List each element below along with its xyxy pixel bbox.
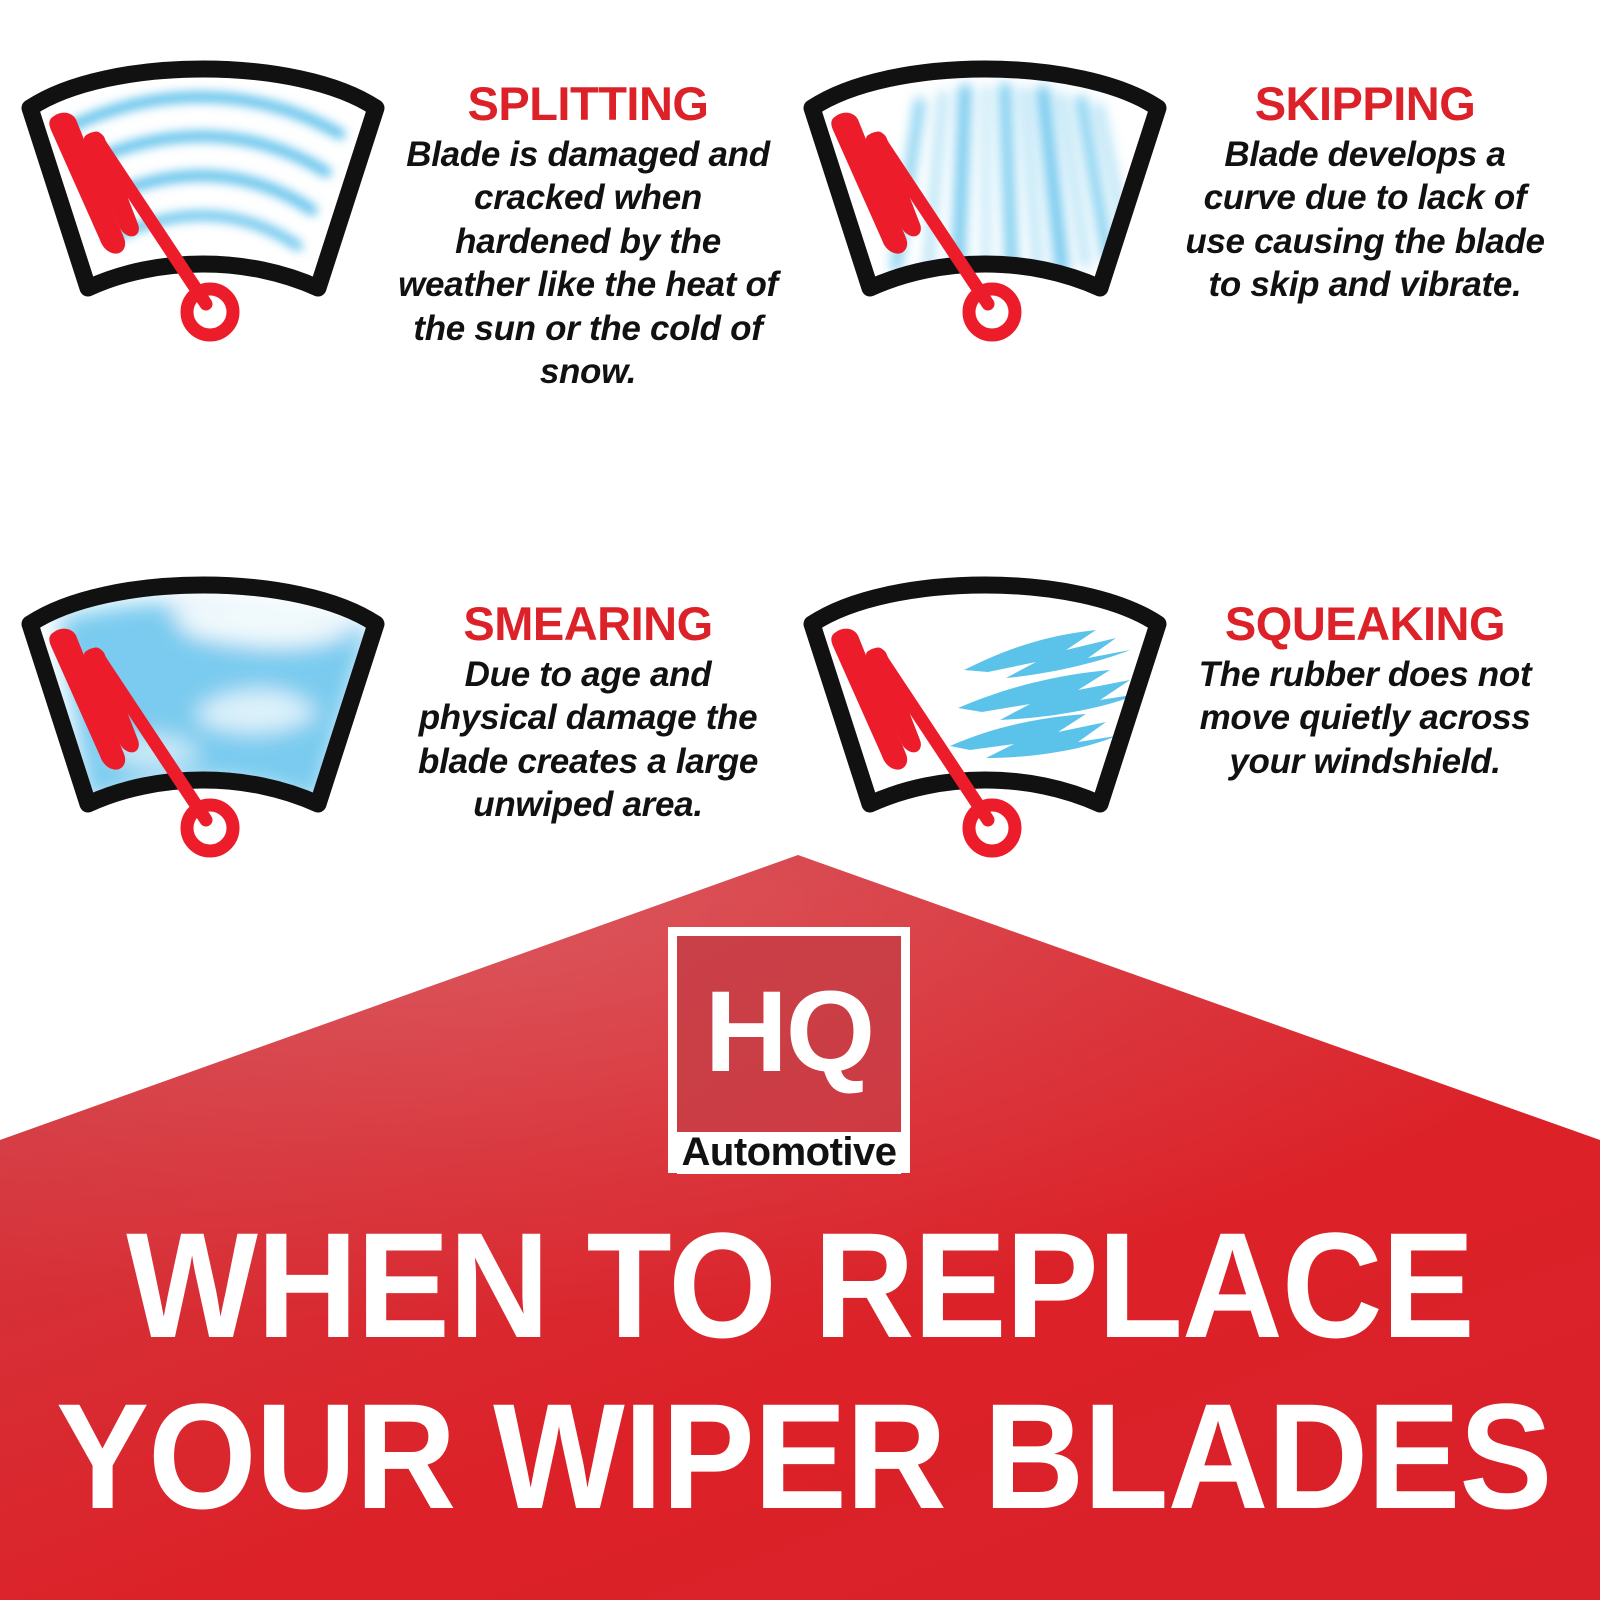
issue-description: Blade develops a curve due to lack of us… bbox=[1180, 133, 1550, 307]
issue-title: SMEARING bbox=[398, 600, 778, 647]
hq-automotive-logo: HQ Automotive bbox=[668, 927, 910, 1173]
issue-description: The rubber does not move quietly across … bbox=[1180, 653, 1550, 783]
headline-line-1: WHEN TO REPLACE bbox=[56, 1212, 1544, 1359]
logo-initials: HQ bbox=[705, 975, 874, 1090]
issue-text-squeaking: SQUEAKING The rubber does not move quiet… bbox=[1180, 600, 1550, 783]
issue-text-smearing: SMEARING Due to age and physical damage … bbox=[398, 600, 778, 827]
issue-card-splitting: SPLITTING Blade is damaged and cracked w… bbox=[18, 42, 778, 393]
headline: WHEN TO REPLACE YOUR WIPER BLADES bbox=[0, 1212, 1600, 1530]
issue-card-smearing: SMEARING Due to age and physical damage … bbox=[18, 558, 778, 858]
wiper-windshield-zigzag-icon bbox=[800, 558, 1170, 858]
issue-text-splitting: SPLITTING Blade is damaged and cracked w… bbox=[398, 80, 778, 393]
issue-card-skipping: SKIPPING Blade develops a curve due to l… bbox=[800, 42, 1550, 342]
issue-card-squeaking: SQUEAKING The rubber does not move quiet… bbox=[800, 558, 1550, 858]
wiper-windshield-smear-icon bbox=[18, 558, 388, 858]
headline-line-2: YOUR WIPER BLADES bbox=[56, 1383, 1544, 1530]
issue-title: SKIPPING bbox=[1180, 80, 1550, 127]
issue-title: SQUEAKING bbox=[1180, 600, 1550, 647]
logo-wordmark: Automotive bbox=[677, 1132, 901, 1174]
wiper-windshield-arcs-icon bbox=[18, 42, 388, 342]
issue-description: Blade is damaged and cracked when harden… bbox=[398, 133, 778, 393]
issue-description: Due to age and physical damage the blade… bbox=[398, 653, 778, 827]
infographic-canvas: SPLITTING Blade is damaged and cracked w… bbox=[0, 0, 1600, 1600]
issue-text-skipping: SKIPPING Blade develops a curve due to l… bbox=[1180, 80, 1550, 307]
issue-title: SPLITTING bbox=[398, 80, 778, 127]
wiper-windshield-streaks-icon bbox=[800, 42, 1170, 342]
logo-mark: HQ bbox=[677, 936, 901, 1132]
